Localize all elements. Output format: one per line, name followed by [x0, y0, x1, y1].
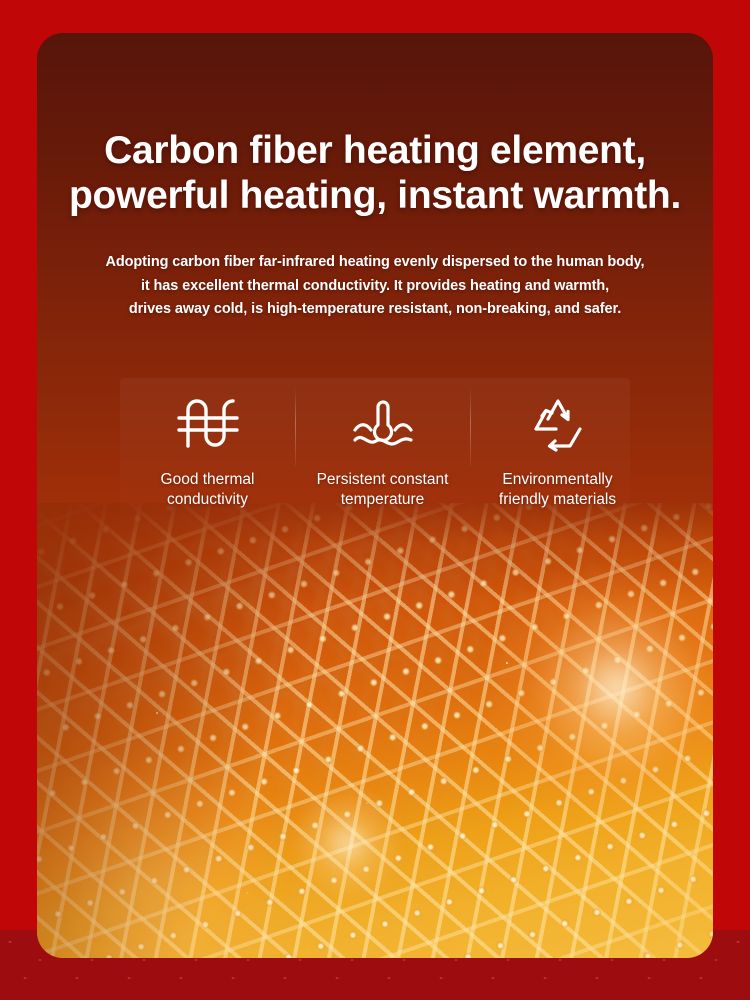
feature-2-label-line-1: Persistent constant	[295, 470, 470, 490]
body-line-3: drives away cold, is high-temperature re…	[37, 298, 713, 321]
feature-3-label-line-2: friendly materials	[470, 490, 645, 510]
feature-1-label-line-2: conductivity	[120, 490, 295, 510]
heating-element-coil-icon	[171, 390, 245, 456]
body-paragraph: Adopting carbon fiber far-infrared heati…	[37, 251, 713, 321]
feature-item-constant-temperature: Persistent constant temperature	[295, 378, 470, 538]
headline-line-2: powerful heating, instant warmth.	[37, 173, 713, 218]
carbon-nanotube-image	[37, 503, 713, 958]
feature-row: Good thermal conductivity	[37, 378, 713, 538]
headline-line-1: Carbon fiber heating element,	[37, 128, 713, 173]
feature-label-eco-materials: Environmentally friendly materials	[470, 470, 645, 511]
thermometer-waves-icon	[346, 390, 420, 456]
feature-panel: Good thermal conductivity	[120, 378, 630, 538]
header-block: Carbon fiber heating element, powerful h…	[37, 33, 713, 322]
promo-card: Carbon fiber heating element, powerful h…	[37, 33, 713, 958]
glow-center	[287, 788, 407, 898]
feature-3-label-line-1: Environmentally	[470, 470, 645, 490]
feature-label-thermal-conductivity: Good thermal conductivity	[120, 470, 295, 511]
feature-2-label-line-2: temperature	[295, 490, 470, 510]
feature-item-eco-materials: Environmentally friendly materials	[470, 378, 645, 538]
recycle-triangle-icon	[521, 390, 595, 456]
feature-label-constant-temperature: Persistent constant temperature	[295, 470, 470, 511]
body-line-1: Adopting carbon fiber far-infrared heati…	[37, 251, 713, 274]
feature-item-thermal-conductivity: Good thermal conductivity	[120, 378, 295, 538]
body-line-2: it has excellent thermal conductivity. I…	[37, 275, 713, 298]
promo-page: Carbon fiber heating element, powerful h…	[0, 0, 750, 1000]
feature-1-label-line-1: Good thermal	[120, 470, 295, 490]
